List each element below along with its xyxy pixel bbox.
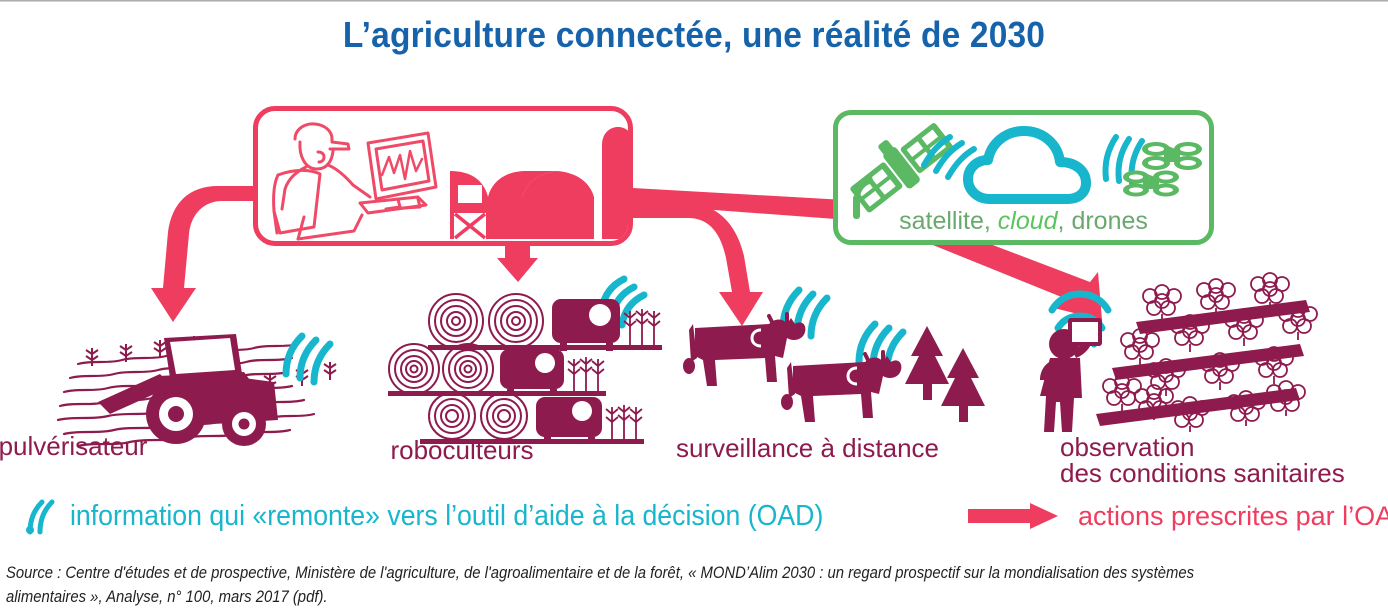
farmer-at-computer-icon [274,124,436,239]
cow-icon [781,352,901,422]
person-with-tablet-icon [1040,318,1102,432]
vineyard-row-icon [1096,273,1317,432]
hay-bale-icon [429,393,527,439]
group-cows: surveillance à distance [675,270,990,475]
legend-downlink: actions prescrites par l’OAD [968,495,1388,537]
arrow-right-icon [968,501,1060,531]
wifi-icon [22,496,58,536]
robot-unit-icon [500,349,564,396]
infographic-canvas: L’agriculture connectée, une réalité de … [0,0,1388,616]
group-label-cows: surveillance à distance [650,435,965,463]
robot-unit-icon [552,299,620,351]
group-robot: roboculteurs [380,265,660,480]
wifi-icon [286,336,330,382]
source-citation: Source : Centre d'études et de prospecti… [6,562,1212,610]
satellite-label-part1: satellite, [899,207,998,235]
legend-downlink-text: actions prescrites par l’OAD [1078,501,1388,532]
group-label-observe-line2: des conditions sanitaires [1060,460,1388,488]
group-label-robot: roboculteurs [322,437,602,465]
wheat-icon [624,309,660,345]
wheat-icon [568,357,604,391]
wheat-icon [606,405,642,439]
cloud-label: cloud [998,207,1058,235]
hay-bale-icon [389,344,493,394]
group-observe: observation des conditions sanitaires [1010,272,1388,484]
hay-bale-icon [429,294,543,348]
silo-icon [602,127,633,239]
group-sprayer: pulvérisateur [30,290,360,480]
legend-uplink: information qui «remonte» vers l’outil d… [22,495,889,537]
drones-label: , drones [1058,207,1148,235]
fir-tree-icon [905,326,985,422]
cloud-icon [968,131,1086,199]
satellite-box-label: satellite, cloud, drones [838,207,1209,236]
farmer-computer-barn-box [253,106,633,246]
group-label-sprayer: pulvérisateur [0,433,238,461]
legend-uplink-text: information qui «remonte» vers l’outil d… [70,500,823,533]
satellite-cloud-drones-box: satellite, cloud, drones [833,110,1214,245]
cow-icon [683,314,805,386]
